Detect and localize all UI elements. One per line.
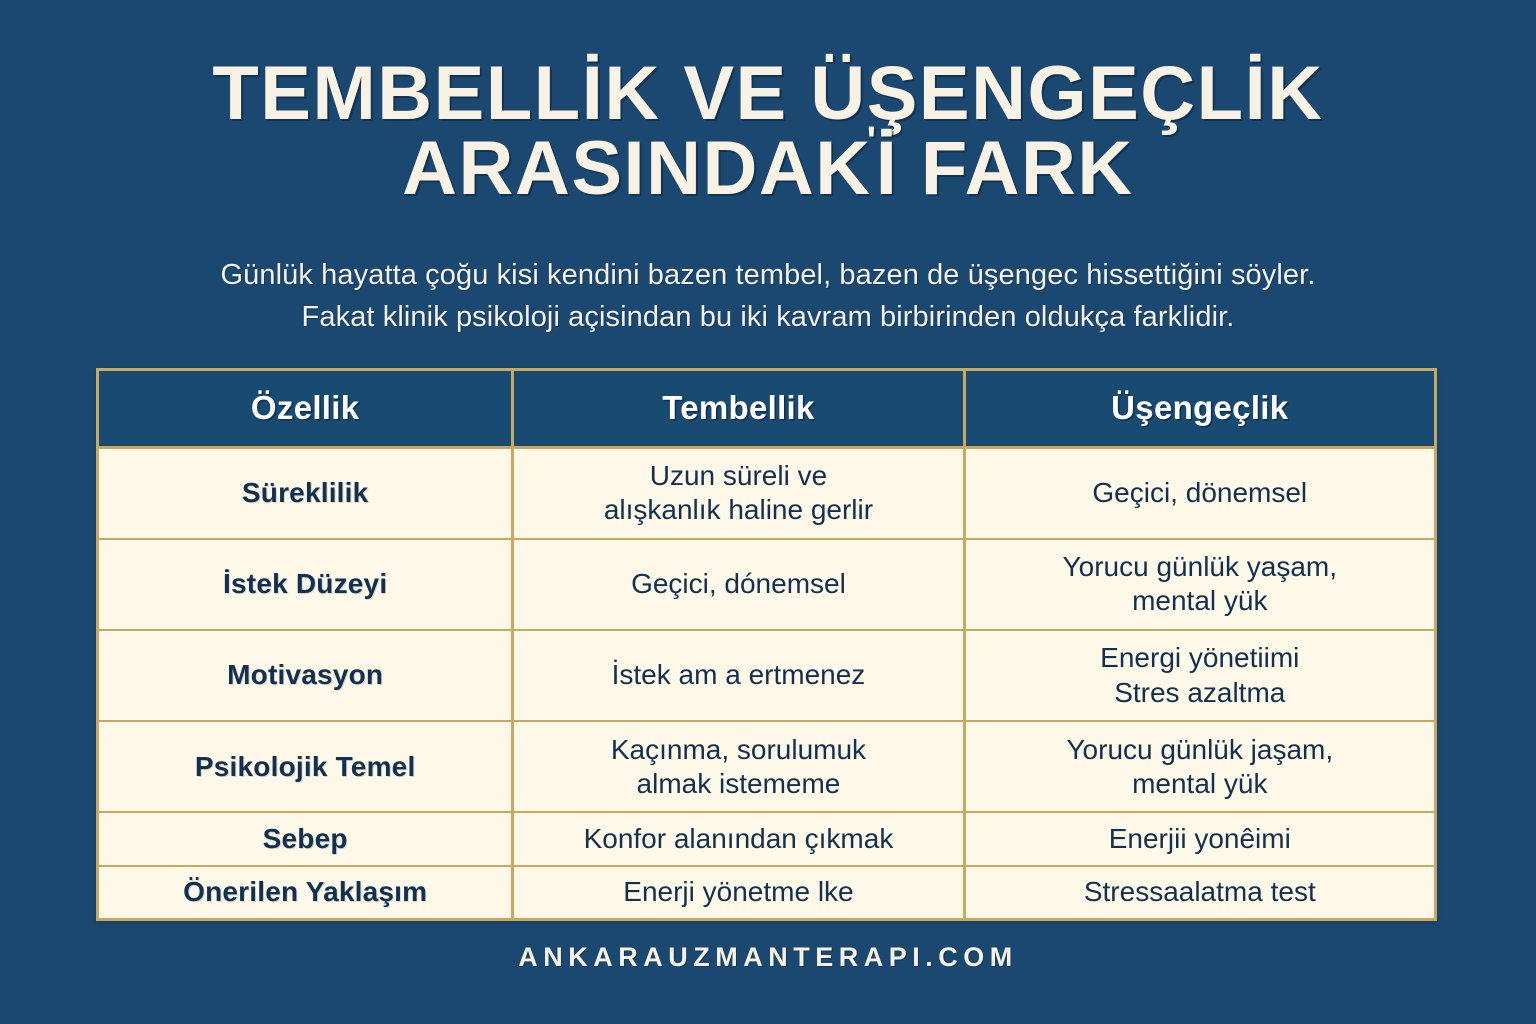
cell-feature: Süreklilik: [99, 447, 513, 539]
cell-usengeclik: Stressaalatma test: [964, 866, 1434, 918]
cell-text-line: Geçici, dönemsel: [978, 476, 1422, 510]
cell-tembellik: İstek am a ertmenez: [513, 630, 964, 721]
column-header-tembellik: Tembellik: [513, 371, 964, 447]
subtitle-line-2: Fakat klinik psikoloji açisindan bu iki …: [0, 296, 1536, 338]
cell-tembellik: Geçici, dónemsel: [513, 539, 964, 630]
cell-text-line: mental yük: [978, 584, 1422, 618]
table-row: Önerilen YaklaşımEnerji yönetme lkeStres…: [99, 866, 1434, 918]
cell-text-line: Stres azaltma: [978, 676, 1422, 710]
cell-tembellik: Konfor alanından çıkmak: [513, 812, 964, 865]
table-row: Motivasyonİstek am a ertmenezEnergi yöne…: [99, 630, 1434, 721]
column-header-usengeclik: Üşengeçlik: [964, 371, 1434, 447]
infographic-poster: TEMBELLİK VE ÜŞENGEÇLİK ARASINDAK'İ FARK…: [0, 0, 1536, 1024]
title-line-2-after: İ FARK: [876, 126, 1134, 211]
cell-text-line: Konfor alanından çıkmak: [526, 822, 950, 856]
cell-text-line: almak istememe: [526, 767, 950, 801]
table-header-row: Özellik Tembellik Üşengeçlik: [99, 371, 1434, 447]
cell-text-line: Energi yönetiimi: [978, 641, 1422, 675]
comparison-table: Özellik Tembellik Üşengeçlik SüreklilikU…: [99, 371, 1434, 918]
cell-text-line: Enerji yönetme lke: [526, 875, 950, 909]
cell-text-line: Yorucu günlük jaşam,: [978, 733, 1422, 767]
cell-text-line: Yorucu günlük yaşam,: [978, 550, 1422, 584]
subtitle-line-1: Günlük hayatta çoğu kisi kendini bazen t…: [0, 254, 1536, 296]
cell-usengeclik: Energi yönetiimiStres azaltma: [964, 630, 1434, 721]
title-line-2-before: ARASINDAK: [402, 126, 872, 211]
table-row: SebepKonfor alanından çıkmakEnerjii yonê…: [99, 812, 1434, 865]
title-apostrophe-artifact: ': [867, 122, 878, 162]
comparison-table-container: Özellik Tembellik Üşengeçlik SüreklilikU…: [96, 368, 1437, 921]
table-header: Özellik Tembellik Üşengeçlik: [99, 371, 1434, 447]
cell-text-line: Geçici, dónemsel: [526, 567, 950, 601]
cell-tembellik: Enerji yönetme lke: [513, 866, 964, 918]
cell-feature: Önerilen Yaklaşım: [99, 866, 513, 918]
cell-text-line: mental yük: [978, 767, 1422, 801]
cell-text-line: Kaçınma, sorulumuk: [526, 733, 950, 767]
cell-tembellik: Kaçınma, sorulumukalmak istememe: [513, 721, 964, 812]
table-row: Psikolojik TemelKaçınma, sorulumukalmak …: [99, 721, 1434, 812]
cell-tembellik: Uzun süreli vealışkanlık haline gerlir: [513, 447, 964, 539]
poster-subtitle: Günlük hayatta çoğu kisi kendini bazen t…: [0, 254, 1536, 338]
footer-website: ANKARAUZMANTERAPI.COM: [0, 942, 1536, 973]
cell-feature: Motivasyon: [99, 630, 513, 721]
cell-usengeclik: Yorucu günlük yaşam,mental yük: [964, 539, 1434, 630]
cell-text-line: İstek am a ertmenez: [526, 658, 950, 692]
cell-text-line: Stressaalatma test: [978, 875, 1422, 909]
table-body: SüreklilikUzun süreli vealışkanlık halin…: [99, 447, 1434, 918]
title-line-2: ARASINDAK'İ FARK: [0, 131, 1536, 206]
title-line-1: TEMBELLİK VE ÜŞENGEÇLİK: [0, 56, 1536, 131]
table-row: İstek DüzeyiGeçici, dónemselYorucu günlü…: [99, 539, 1434, 630]
column-header-ozellik: Özellik: [99, 371, 513, 447]
cell-text-line: alışkanlık haline gerlir: [526, 493, 950, 527]
cell-usengeclik: Yorucu günlük jaşam,mental yük: [964, 721, 1434, 812]
cell-usengeclik: Geçici, dönemsel: [964, 447, 1434, 539]
cell-feature: İstek Düzeyi: [99, 539, 513, 630]
cell-feature: Psikolojik Temel: [99, 721, 513, 812]
cell-usengeclik: Enerjii yonêimi: [964, 812, 1434, 865]
table-row: SüreklilikUzun süreli vealışkanlık halin…: [99, 447, 1434, 539]
poster-title: TEMBELLİK VE ÜŞENGEÇLİK ARASINDAK'İ FARK: [0, 56, 1536, 206]
cell-feature: Sebep: [99, 812, 513, 865]
cell-text-line: Enerjii yonêimi: [978, 822, 1422, 856]
cell-text-line: Uzun süreli ve: [526, 459, 950, 493]
